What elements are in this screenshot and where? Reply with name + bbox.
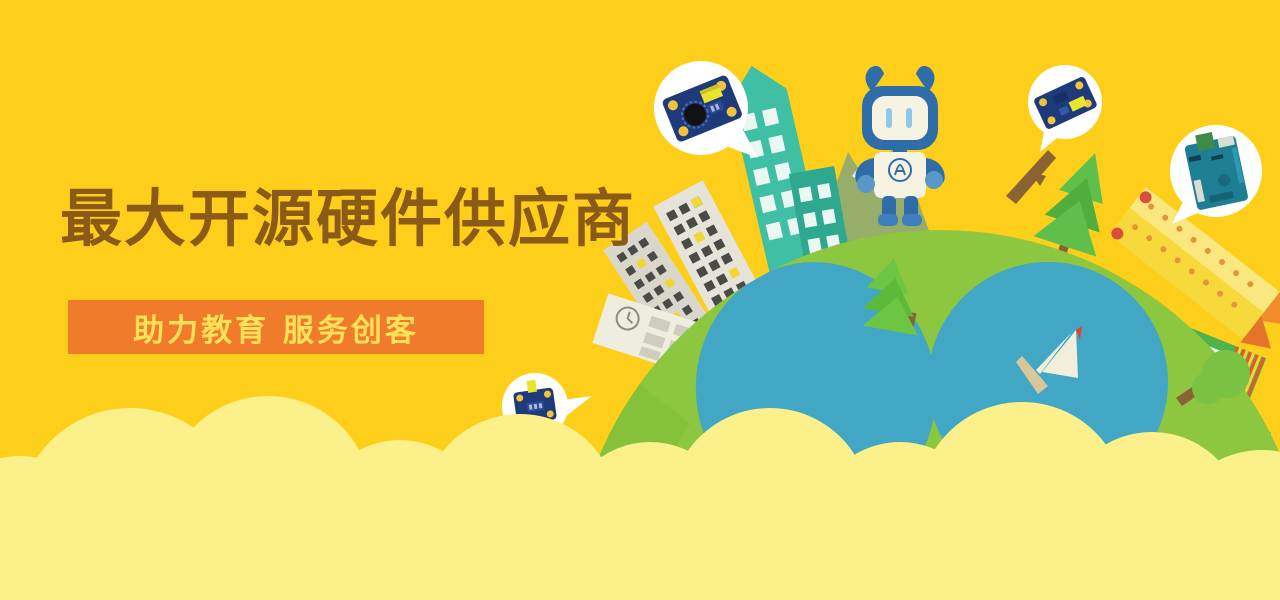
subtitle-text: 助力教育 服务创客 — [133, 305, 419, 350]
page-title: 最大开源硬件供应商 — [60, 186, 636, 251]
subtitle-banner: 助力教育 服务创客 — [68, 300, 484, 354]
promo-banner: 最大开源硬件供应商 助力教育 服务创客 — [0, 0, 1280, 600]
